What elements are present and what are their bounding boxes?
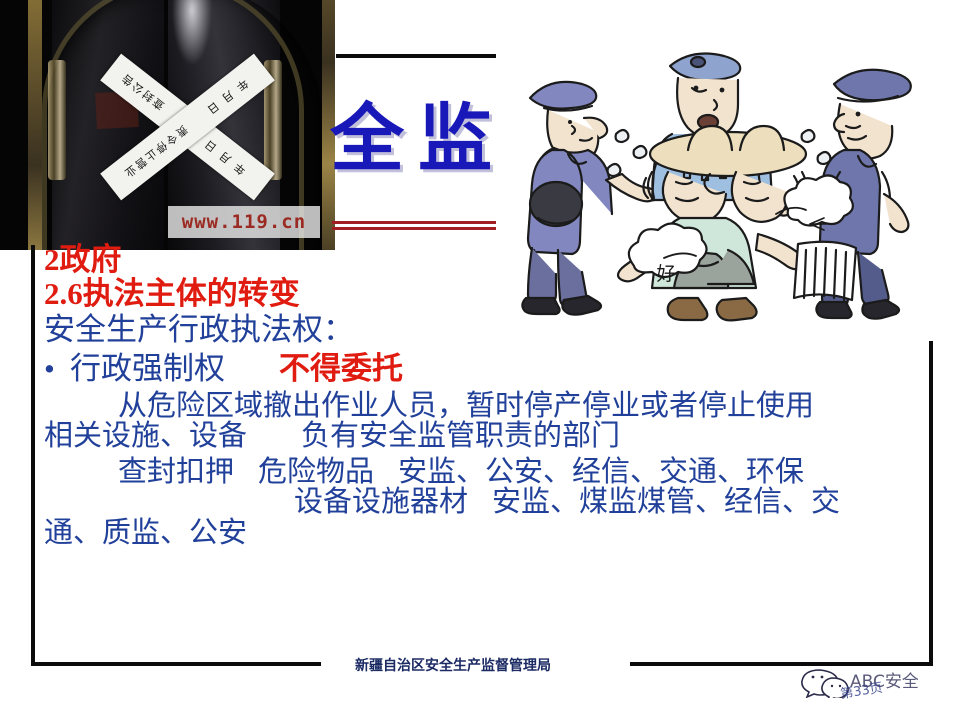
sweat-drops-left (608, 130, 647, 176)
footer-organization: 新疆自治区安全生产监督管理局 (355, 655, 551, 675)
heading-level-1: 2政府 (44, 244, 934, 276)
title-red-rule-lower (332, 227, 496, 230)
paragraph-line-3-text-a: 查封扣押 (118, 456, 234, 488)
paragraph-line-2-text-a: 相关设施、设备 (44, 420, 247, 452)
paragraph-line-3: 查封扣押危险物品安监、公安、经信、交通、环保 (44, 457, 934, 487)
paragraph-line-4-text-b: 安监、煤监煤管、经信、交 (492, 486, 840, 518)
photo-watermark-text: www.119.cn (182, 211, 306, 233)
paragraph-line-3-text-b: 危险物品 (258, 456, 374, 488)
heading-level-2: 2.6执法主体的转变 (44, 278, 934, 310)
paragraph-line-4: 设备设施器材安监、煤监煤管、经信、交 (44, 487, 934, 517)
bullet-item-label: 行政强制权 (70, 351, 225, 386)
sealed-door-photo: 查封公告 年 月 日 责令停止营业 年 月 日 www.119.cn (0, 0, 335, 250)
heading-level-1-number: 2 (44, 242, 60, 277)
photo-watermark: www.119.cn (168, 206, 320, 238)
paragraph-line-4-text-a: 设备设施器材 (294, 486, 468, 518)
sweat-drops-right (802, 130, 831, 164)
paragraph-line-2-text-b: 负有安全监管职责的部门 (301, 420, 620, 452)
paragraph-line-1-text: 从危险区域撤出作业人员，暂时停产停业或者停止使用 (118, 390, 814, 422)
paragraph-line-5: 通、质监、公安 (44, 518, 934, 548)
paragraph-block-1: 从危险区域撤出作业人员，暂时停产停业或者停止使用 相关设施、设备负有安全监管职责… (44, 391, 934, 451)
paragraph-line-3-text-c: 安监、公安、经信、交通、环保 (398, 456, 804, 488)
bullet-item-administrative-coercion: •行政强制权不得委托 (44, 353, 934, 385)
paragraph-line-1: 从危险区域撤出作业人员，暂时停产停业或者停止使用 (44, 391, 934, 421)
bullet-marker: • (44, 353, 70, 385)
title-red-rule-upper (332, 221, 496, 224)
bullet-item-note: 不得委托 (279, 351, 403, 386)
subheading-enforcement-power: 安全生产行政执法权： (44, 314, 934, 346)
heading-level-2-number: 2.6 (44, 276, 83, 311)
content-frame-left-line (31, 245, 35, 666)
content-frame-bottom-left-line (31, 662, 321, 666)
paragraph-block-2: 查封扣押危险物品安监、公安、经信、交通、环保 设备设施器材安监、煤监煤管、经信、… (44, 457, 934, 547)
paragraph-line-2: 相关设施、设备负有安全监管职责的部门 (44, 421, 934, 451)
page-title: 全监 (330, 103, 506, 177)
door-pillar-left (48, 60, 66, 180)
paragraph-line-5-text: 通、质监、公安 (44, 517, 247, 549)
slide-body: 2政府 2.6执法主体的转变 安全生产行政执法权： •行政强制权不得委托 从危险… (44, 244, 934, 548)
heading-level-2-text: 执法主体的转变 (83, 276, 300, 311)
heading-level-1-text: 政府 (60, 242, 122, 277)
slide-canvas: 查封公告 年 月 日 责令停止营业 年 月 日 www.119.cn (0, 0, 960, 720)
title-top-rule (336, 54, 496, 58)
